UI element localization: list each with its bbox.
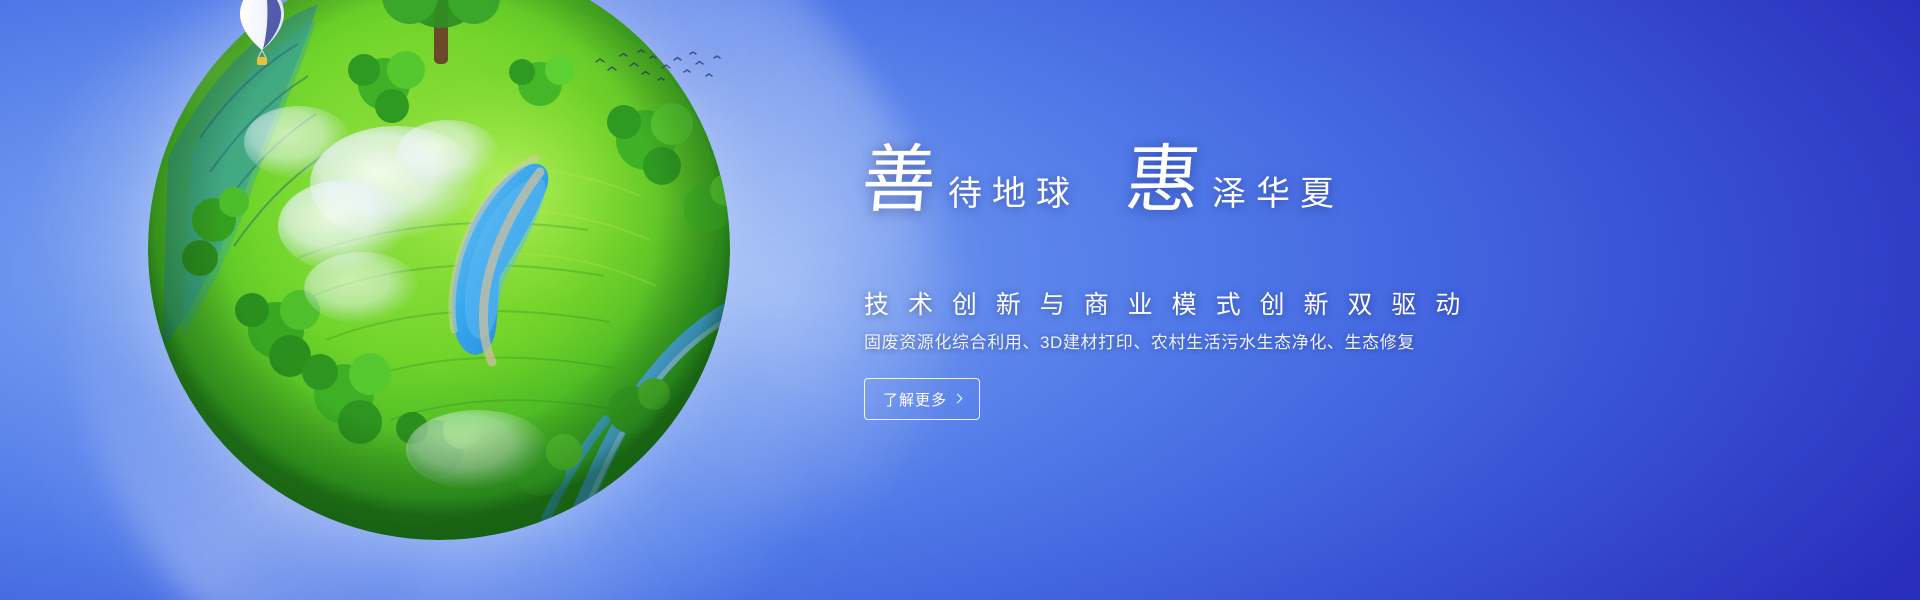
chevron-right-icon (953, 394, 963, 404)
learn-more-button[interactable]: 了解更多 (864, 378, 980, 420)
headline-lead-rest: 待地球 (948, 178, 1080, 218)
hero-subtitle: 技 术 创 新 与 商 业 模 式 创 新 双 驱 动 (864, 290, 1466, 320)
hero-copy: 善 待地球 惠 泽华夏 技 术 创 新 与 商 业 模 式 创 新 双 驱 动 … (862, 0, 1562, 600)
headline-second-char: 惠 (1123, 144, 1205, 218)
headline-second-rest: 泽华夏 (1212, 178, 1344, 218)
birds-flock-icon (592, 44, 722, 90)
hot-air-balloon-icon (236, 0, 288, 70)
headline-lead-char: 善 (859, 144, 941, 218)
hero-banner: 善 待地球 惠 泽华夏 技 术 创 新 与 商 业 模 式 创 新 双 驱 动 … (0, 0, 1920, 600)
learn-more-label: 了解更多 (883, 389, 947, 410)
page-title: 善 待地球 惠 泽华夏 (862, 134, 1562, 218)
hero-description: 固废资源化综合利用、3D建材打印、农村生活污水生态净化、生态修复 (864, 332, 1415, 354)
